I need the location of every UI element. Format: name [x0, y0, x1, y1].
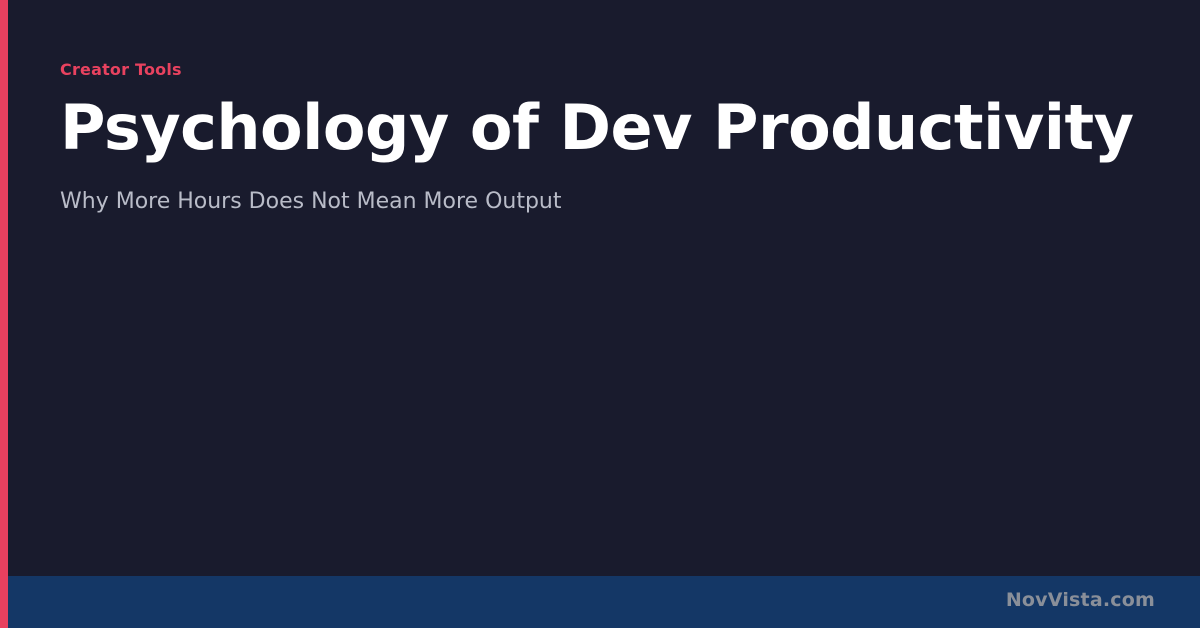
footer-brand-label: NovVista.com: [1006, 589, 1155, 612]
title-slide: Creator Tools Psychology of Dev Producti…: [0, 0, 1200, 628]
page-subtitle: Why More Hours Does Not Mean More Output: [60, 160, 1160, 217]
eyebrow-label: Creator Tools: [60, 0, 1160, 80]
left-accent-bar: [0, 0, 8, 628]
page-title: Psychology of Dev Productivity: [60, 80, 1160, 160]
slide-content: Creator Tools Psychology of Dev Producti…: [60, 0, 1160, 217]
footer-bar: NovVista.com: [0, 576, 1200, 628]
